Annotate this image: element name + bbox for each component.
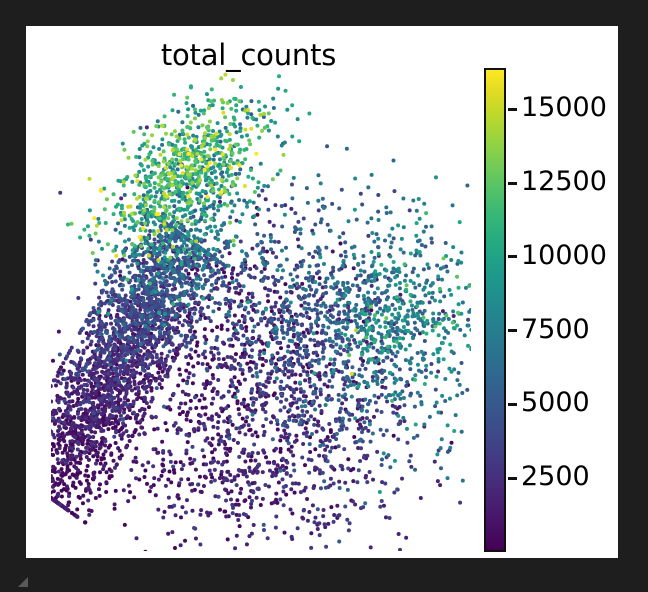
colorbar-tick-mark (508, 403, 517, 406)
colorbar-gradient (484, 68, 506, 552)
colorbar-tick-mark (508, 182, 517, 185)
colorbar-tick-mark (508, 108, 517, 111)
figure-window: total_counts 150001250010000750050002500 (0, 0, 648, 589)
scatter-points-canvas[interactable] (51, 71, 471, 551)
colorbar-tick-mark (508, 329, 517, 332)
page-title: total_counts (26, 38, 471, 72)
colorbar-tick-label: 15000 (521, 94, 607, 121)
colorbar-tick-label: 12500 (521, 168, 607, 195)
colorbar-tick-mark (508, 255, 517, 258)
colorbar-tick-label: 5000 (521, 389, 590, 416)
colorbar-tick-label: 7500 (521, 316, 590, 343)
resize-handle-icon[interactable] (16, 573, 30, 587)
colorbar-tick-mark (508, 477, 517, 480)
matplotlib-figure: total_counts 150001250010000750050002500 (26, 26, 618, 558)
colorbar[interactable]: 150001250010000750050002500 (484, 68, 618, 558)
scatter-plot-axes[interactable] (51, 71, 471, 551)
colorbar-tick-label: 2500 (521, 463, 590, 490)
colorbar-tick-label: 10000 (521, 242, 607, 269)
